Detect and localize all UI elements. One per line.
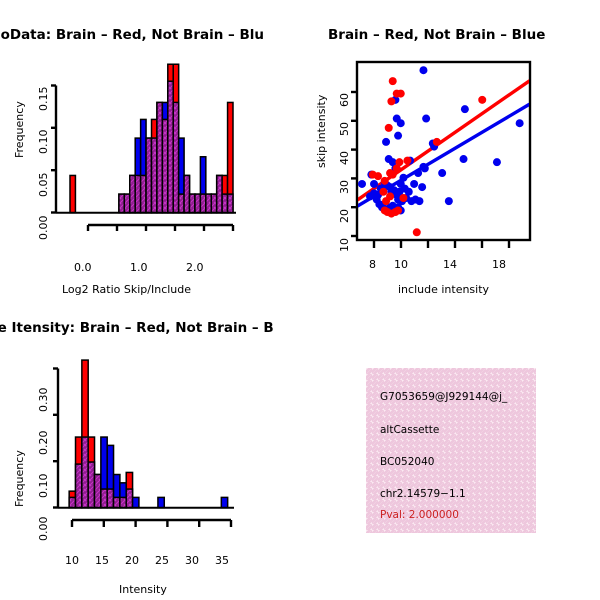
intensity-histogram-canvas (0, 310, 300, 560)
info-line-3: chr2.14579−1.1 (380, 488, 466, 500)
scatter-xlabel: include intensity (398, 283, 489, 296)
intensity-histogram-xlabel: Intensity (119, 583, 167, 596)
ratio-histogram-xlabel: Log2 Ratio Skip/Include (62, 283, 191, 296)
scatter-canvas (300, 18, 600, 268)
info-line-0: G7053659@J929144@j_ (380, 391, 507, 403)
panel-scatter: Brain – Red, Not Brain – Blue skip inten… (300, 18, 600, 308)
panel-intensity-histogram: ne Itensity: Brain – Red, Not Brain – B … (0, 310, 300, 600)
panel-ratio-histogram: RatioData: Brain – Red, Not Brain – Blu … (0, 18, 300, 308)
info-line-1: altCassette (380, 424, 439, 436)
annotation-info-box: G7053659@J929144@j_ altCassette BC052040… (366, 368, 536, 533)
info-line-pval: Pval: 2.000000 (380, 509, 459, 521)
ratio-histogram-canvas (0, 18, 300, 268)
info-line-2: BC052040 (380, 456, 434, 468)
